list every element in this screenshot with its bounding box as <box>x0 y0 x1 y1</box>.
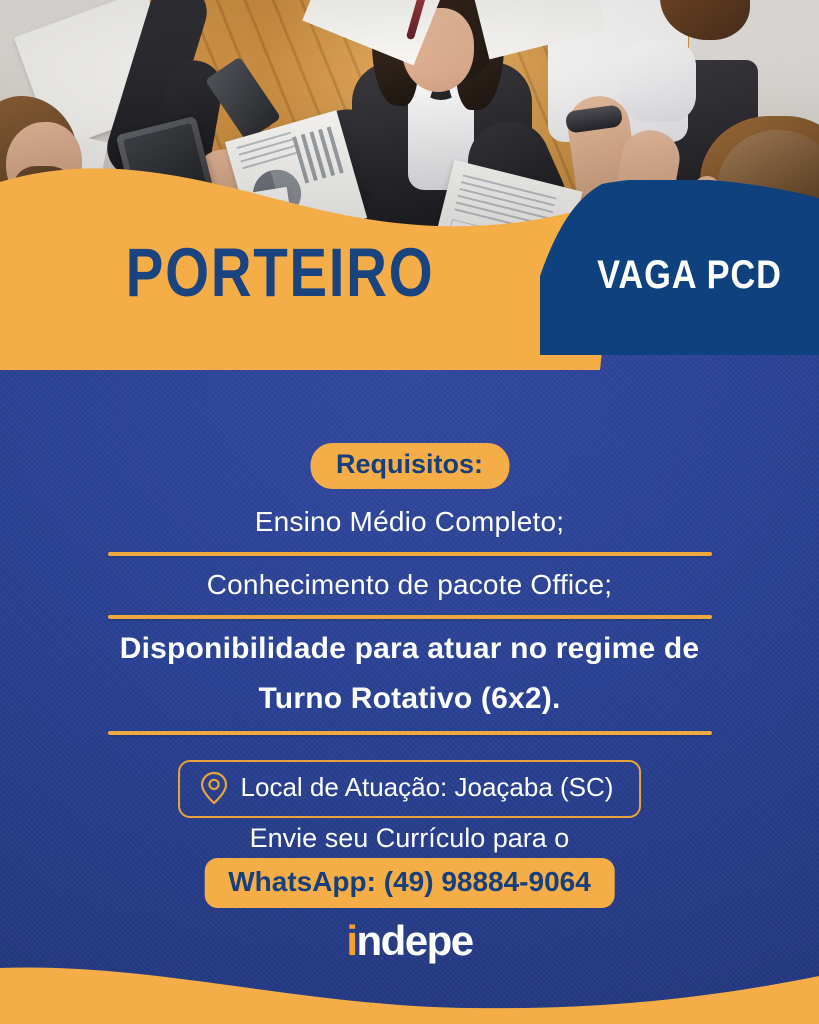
job-posting-poster: PORTEIRO VAGA PCD Requisitos: Ensino Méd… <box>0 0 819 1024</box>
list-item: Disponibilidade para atuar no regime de <box>0 626 819 676</box>
map-pin-icon <box>200 771 228 805</box>
requirements-heading: Requisitos: <box>310 443 509 489</box>
list-item: Conhecimento de pacote Office; <box>0 563 819 610</box>
divider <box>108 615 712 619</box>
orange-footer-wave <box>0 954 819 1024</box>
whatsapp-contact[interactable]: WhatsApp: (49) 98884-9064 <box>204 858 615 908</box>
page-title: PORTEIRO <box>50 238 509 307</box>
location-box: Local de Atuação: Joaçaba (SC) <box>178 760 642 818</box>
cv-instruction: Envie seu Currículo para o <box>0 822 819 854</box>
location-label: Local de Atuação: Joaçaba (SC) <box>241 773 614 803</box>
poster-content: PORTEIRO VAGA PCD Requisitos: Ensino Méd… <box>0 0 819 1024</box>
divider <box>108 552 712 556</box>
list-item: Turno Rotativo (6x2). <box>0 676 819 726</box>
status-badge: VAGA PCD <box>578 255 801 295</box>
divider <box>108 731 712 735</box>
requirements-list: Ensino Médio Completo; Conhecimento de p… <box>0 500 819 742</box>
list-item: Ensino Médio Completo; <box>0 500 819 547</box>
